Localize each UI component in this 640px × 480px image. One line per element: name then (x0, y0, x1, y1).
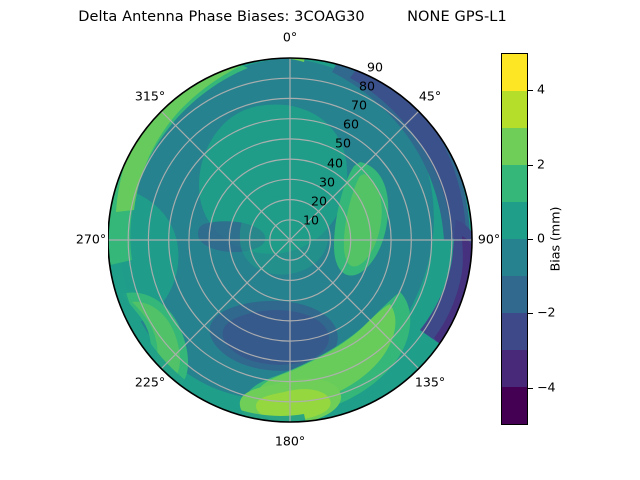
colorbar-band-7 (502, 313, 527, 350)
colorbar-band-9 (502, 387, 527, 424)
colorbar-band-0 (502, 54, 527, 91)
theta-tick-315: 315° (135, 91, 165, 104)
theta-tick-135: 135° (415, 377, 445, 390)
figure-canvas: Delta Antenna Phase Biases: 3COAG30 NONE… (0, 0, 640, 480)
theta-tick-0: 0° (283, 32, 297, 45)
colorbar-ticklabel-0: 0 (537, 233, 545, 246)
r-tick-30: 30 (319, 177, 335, 190)
r-tick-80: 80 (359, 81, 375, 94)
colorbar[interactable]: 4 2 0 −2 −4 (501, 53, 528, 425)
theta-tick-45: 45° (419, 91, 441, 104)
colorbar-tick-m2 (528, 313, 533, 314)
theta-tick-225: 225° (135, 377, 165, 390)
colorbar-tick-4 (528, 90, 533, 91)
r-tick-90: 90 (367, 62, 383, 75)
colorbar-tick-0 (528, 239, 533, 240)
r-tick-10: 10 (303, 215, 319, 228)
polar-grid (108, 58, 472, 422)
polar-axes: 0° 45° 90° 135° 180° 225° 270° 315° 10 2… (108, 48, 474, 428)
colorbar-band-6 (502, 276, 527, 313)
colorbar-band-3 (502, 165, 527, 202)
r-tick-60: 60 (343, 119, 359, 132)
colorbar-band-8 (502, 350, 527, 387)
theta-tick-270: 270° (76, 234, 106, 247)
colorbar-ticklabel-2: 2 (537, 158, 545, 171)
theta-tick-90: 90° (478, 234, 500, 247)
r-tick-50: 50 (335, 138, 351, 151)
colorbar-gradient (501, 53, 528, 425)
colorbar-band-4 (502, 202, 527, 239)
colorbar-tick-2 (528, 165, 533, 166)
colorbar-band-1 (502, 91, 527, 128)
page-title: Delta Antenna Phase Biases: 3COAG30 NONE… (0, 9, 585, 25)
r-tick-40: 40 (327, 158, 343, 171)
r-tick-20: 20 (311, 196, 327, 209)
colorbar-ticklabel-4: 4 (537, 84, 545, 97)
colorbar-band-5 (502, 239, 527, 276)
colorbar-tick-m4 (528, 388, 533, 389)
colorbar-band-2 (502, 128, 527, 165)
r-tick-70: 70 (351, 100, 367, 113)
colorbar-ticklabel-m4: −4 (537, 382, 556, 395)
theta-tick-180: 180° (275, 436, 305, 449)
colorbar-axis-label: Bias (mm) (550, 207, 563, 272)
colorbar-ticklabel-m2: −2 (537, 307, 556, 320)
polar-contour-plot (108, 48, 474, 428)
